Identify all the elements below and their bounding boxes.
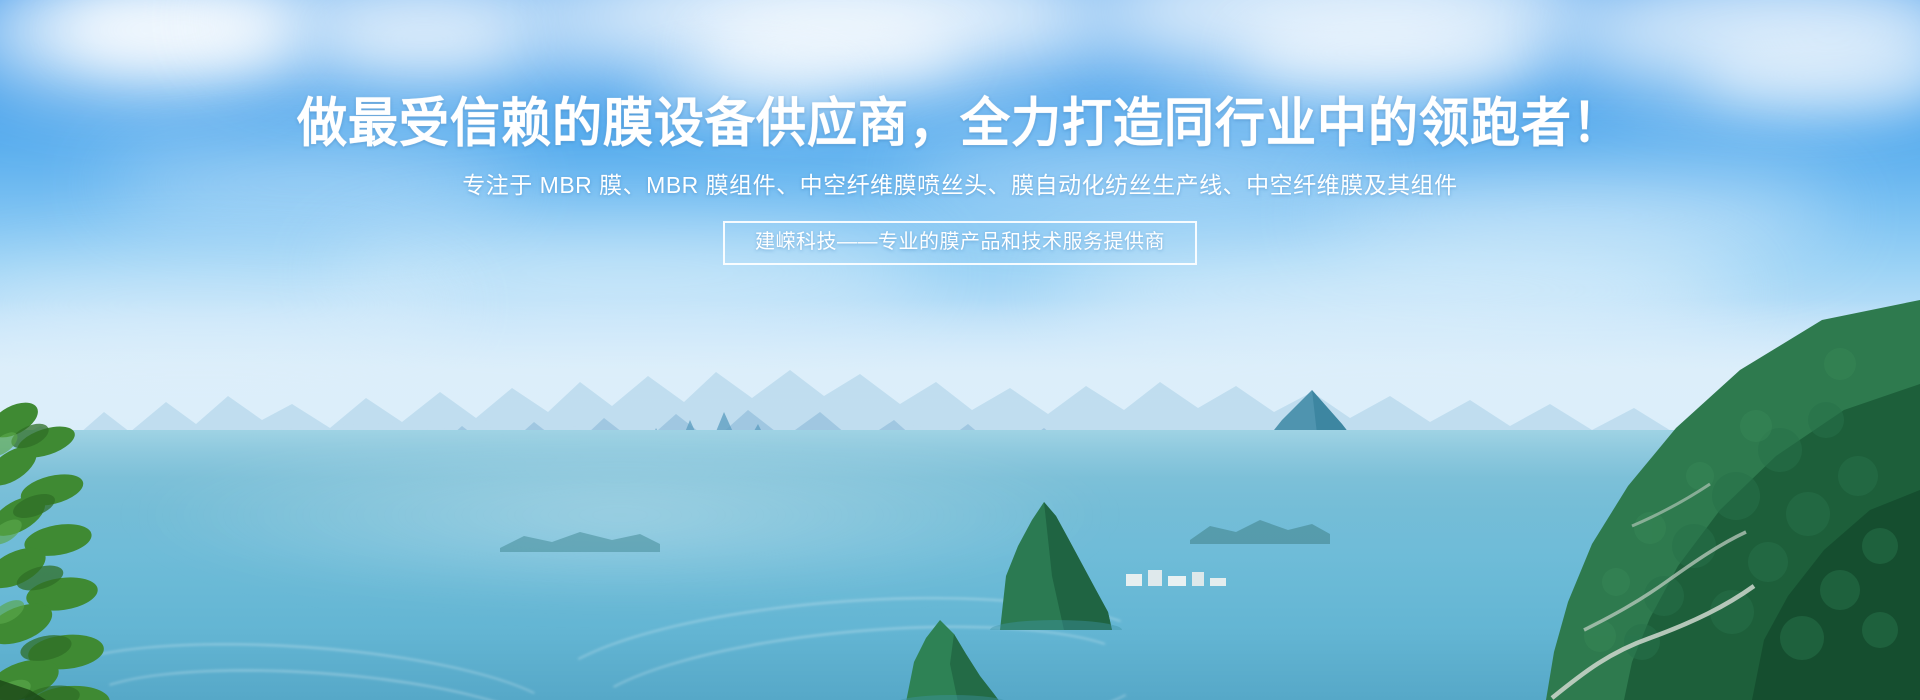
banner-tagline-box[interactable]: 建嵘科技——专业的膜产品和技术服务提供商 <box>723 221 1197 265</box>
shoreline-buildings <box>1122 556 1242 596</box>
cloud-icon <box>1320 175 1840 255</box>
right-forest-slope <box>1180 300 1920 700</box>
cloud-icon <box>100 150 520 216</box>
cloud-icon <box>640 60 850 112</box>
cloud-icon <box>900 140 1380 210</box>
banner-tagline: 建嵘科技——专业的膜产品和技术服务提供商 <box>755 232 1165 252</box>
island-small <box>880 590 1050 700</box>
cloud-icon <box>1240 16 1540 90</box>
cloud-icon <box>330 10 520 68</box>
foreground-foliage <box>0 380 170 700</box>
hero-banner: 做最受信赖的膜设备供应商，全力打造同行业中的领跑者！ 专注于 MBR 膜、MBR… <box>0 0 1920 700</box>
islet <box>500 512 660 552</box>
